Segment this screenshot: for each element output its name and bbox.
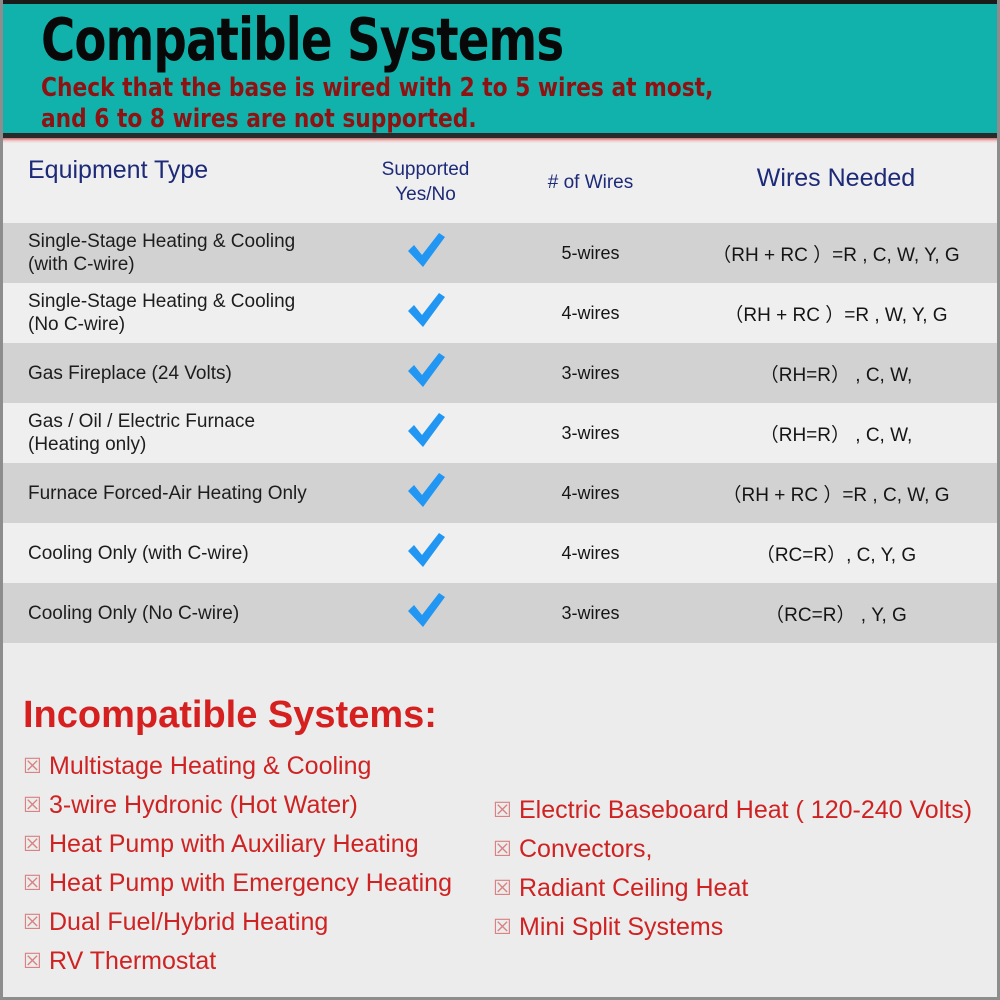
column-header-supported-line2: Yes/No [353,182,498,207]
cell-wire-count: 3-wires [498,603,683,624]
list-item: ☒ RV Thermostat [23,942,493,981]
list-item: ☒ Dual Fuel/Hybrid Heating [23,903,493,942]
cell-supported [353,471,498,516]
incompatible-left-column: ☒ Multistage Heating & Cooling ☒ 3-wire … [23,747,493,981]
cell-wires-needed: （RH=R） , C, W, [683,420,997,447]
table-row: Furnace Forced-Air Heating Only 4-wires … [3,463,997,523]
table-header-row: Equipment Type Supported Yes/No # of Wir… [3,143,997,223]
wire-count-value: 4-wires [561,303,619,323]
equipment-line2: (Heating only) [28,433,353,456]
wires-needed-value: （RH=R） , C, W, [760,365,913,386]
column-header-equipment-label: Equipment Type [28,157,353,183]
page-title: Compatible Systems [41,8,882,72]
cell-wires-needed: （RC=R） , Y, G [683,600,997,627]
wire-count-value: 3-wires [561,603,619,623]
header-banner: Compatible Systems Check that the base i… [3,0,997,138]
wire-count-value: 4-wires [561,543,619,563]
wires-needed-value: （RH + RC ）=R , W, Y, G [724,305,947,326]
boxed-x-icon: ☒ [23,873,49,894]
equipment-line1: Single-Stage Heating & Cooling [28,230,353,253]
checkmark-icon [404,471,448,511]
banner-subtitle-line1: Check that the base is wired with 2 to 5… [41,74,930,103]
cell-equipment: Single-Stage Heating & Cooling (No C-wir… [3,290,353,336]
boxed-x-icon: ☒ [493,800,519,821]
equipment-line1: Cooling Only (No C-wire) [28,602,353,625]
boxed-x-icon: ☒ [23,756,49,777]
checkmark-icon [404,591,448,631]
cell-supported [353,231,498,276]
incompatible-title: Incompatible Systems: [23,695,997,735]
wire-count-value: 5-wires [561,243,619,263]
cell-wire-count: 3-wires [498,363,683,384]
wires-needed-value: （RC=R） , Y, G [765,605,907,626]
cell-wire-count: 4-wires [498,303,683,324]
list-item: ☒ Heat Pump with Emergency Heating [23,864,493,903]
cell-supported [353,411,498,456]
cell-wire-count: 4-wires [498,483,683,504]
infographic-page: Compatible Systems Check that the base i… [0,0,1000,1000]
cell-equipment: Gas Fireplace (24 Volts) [3,362,353,385]
boxed-x-icon: ☒ [493,917,519,938]
boxed-x-icon: ☒ [23,834,49,855]
column-header-wire-count: # of Wires [498,157,683,196]
cell-supported [353,291,498,336]
cell-supported [353,591,498,636]
cell-wires-needed: （RH=R） , C, W, [683,360,997,387]
incompatible-section: Incompatible Systems: ☒ Multistage Heati… [3,643,997,981]
list-item-label: Convectors, [519,836,652,863]
column-header-wires-needed: Wires Needed [683,157,997,191]
incompatible-right-column: ☒ Electric Baseboard Heat ( 120-240 Volt… [493,747,997,981]
cell-equipment: Cooling Only (with C-wire) [3,542,353,565]
list-item-label: Electric Baseboard Heat ( 120-240 Volts) [519,797,972,824]
list-item-label: Heat Pump with Auxiliary Heating [49,831,419,858]
equipment-line1: Cooling Only (with C-wire) [28,542,353,565]
list-item: ☒ 3-wire Hydronic (Hot Water) [23,786,493,825]
column-header-wire-count-label: # of Wires [498,157,683,196]
cell-equipment: Cooling Only (No C-wire) [3,602,353,625]
list-item-label: 3-wire Hydronic (Hot Water) [49,792,358,819]
equipment-line1: Gas Fireplace (24 Volts) [28,362,353,385]
cell-wire-count: 3-wires [498,423,683,444]
list-item: ☒ Mini Split Systems [493,908,997,947]
table-row: Cooling Only (with C-wire) 4-wires （RC=R… [3,523,997,583]
wire-count-value: 4-wires [561,483,619,503]
checkmark-icon [404,291,448,331]
table-row: Gas Fireplace (24 Volts) 3-wires （RH=R） … [3,343,997,403]
list-item: ☒ Multistage Heating & Cooling [23,747,493,786]
equipment-line1: Furnace Forced-Air Heating Only [28,482,353,505]
cell-wire-count: 4-wires [498,543,683,564]
checkmark-icon [404,231,448,271]
wire-count-value: 3-wires [561,363,619,383]
table-row: Gas / Oil / Electric Furnace (Heating on… [3,403,997,463]
column-header-supported: Supported Yes/No [353,157,498,207]
column-header-supported-line1: Supported [353,157,498,182]
list-item-label: Multistage Heating & Cooling [49,753,371,780]
incompatible-columns: ☒ Multistage Heating & Cooling ☒ 3-wire … [23,747,997,981]
boxed-x-icon: ☒ [23,912,49,933]
boxed-x-icon: ☒ [493,839,519,860]
column-header-equipment: Equipment Type [3,157,353,183]
equipment-line2: (with C-wire) [28,253,353,276]
table-row: Cooling Only (No C-wire) 3-wires （RC=R） … [3,583,997,643]
wires-needed-value: （RH + RC ）=R , C, W, G [723,485,950,506]
cell-wire-count: 5-wires [498,243,683,264]
equipment-line1: Single-Stage Heating & Cooling [28,290,353,313]
cell-equipment: Gas / Oil / Electric Furnace (Heating on… [3,410,353,456]
column-header-wires-needed-label: Wires Needed [683,157,989,191]
list-item: ☒ Electric Baseboard Heat ( 120-240 Volt… [493,791,997,830]
equipment-line1: Gas / Oil / Electric Furnace [28,410,353,433]
checkmark-icon [404,531,448,571]
cell-equipment: Single-Stage Heating & Cooling (with C-w… [3,230,353,276]
cell-equipment: Furnace Forced-Air Heating Only [3,482,353,505]
cell-supported [353,531,498,576]
cell-supported [353,351,498,396]
list-item: ☒ Convectors, [493,830,997,869]
list-item-label: RV Thermostat [49,948,216,975]
table-row: Single-Stage Heating & Cooling (No C-wir… [3,283,997,343]
banner-subtitle-line2: and 6 to 8 wires are not supported. [41,105,930,134]
wires-needed-value: （RH=R） , C, W, [760,425,913,446]
checkmark-icon [404,351,448,391]
boxed-x-icon: ☒ [23,795,49,816]
cell-wires-needed: （RH + RC ）=R , C, W, G [683,480,997,507]
boxed-x-icon: ☒ [493,878,519,899]
list-item: ☒ Heat Pump with Auxiliary Heating [23,825,493,864]
equipment-line2: (No C-wire) [28,313,353,336]
cell-wires-needed: （RC=R）, C, Y, G [683,540,997,567]
list-item-label: Radiant Ceiling Heat [519,875,748,902]
list-item-label: Mini Split Systems [519,914,723,941]
wire-count-value: 3-wires [561,423,619,443]
compatibility-table: Equipment Type Supported Yes/No # of Wir… [3,143,997,643]
checkmark-icon [404,411,448,451]
table-row: Single-Stage Heating & Cooling (with C-w… [3,223,997,283]
wires-needed-value: （RC=R）, C, Y, G [756,545,916,566]
cell-wires-needed: （RH + RC ）=R , C, W, Y, G [683,240,997,267]
list-item: ☒ Radiant Ceiling Heat [493,869,997,908]
cell-wires-needed: （RH + RC ）=R , W, Y, G [683,300,997,327]
wires-needed-value: （RH + RC ）=R , C, W, Y, G [712,245,959,266]
list-item-label: Dual Fuel/Hybrid Heating [49,909,328,936]
boxed-x-icon: ☒ [23,951,49,972]
list-item-label: Heat Pump with Emergency Heating [49,870,452,897]
